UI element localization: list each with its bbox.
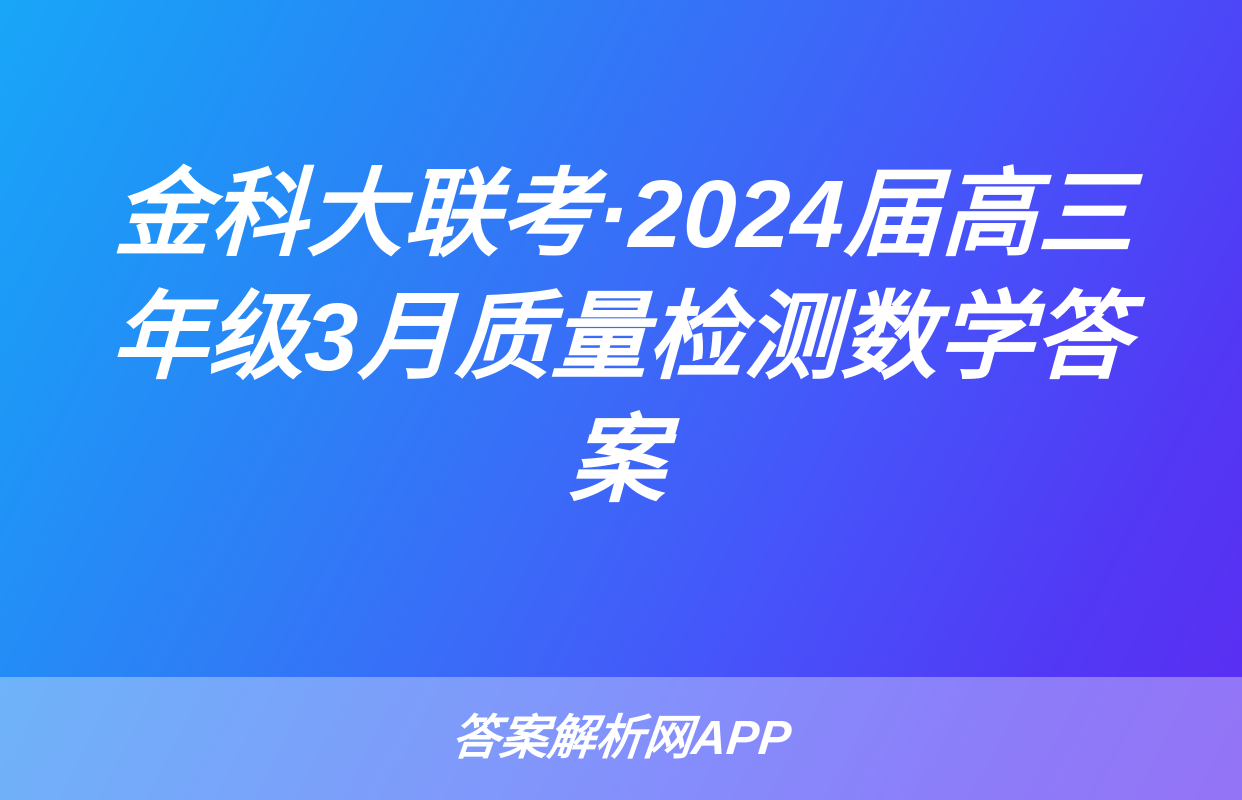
poster-canvas: 金科大联考·2024届高三年级3月质量检测数学答案 答案解析网APP (0, 0, 1242, 800)
headline-area: 金科大联考·2024届高三年级3月质量检测数学答案 (0, 0, 1242, 677)
watermark-text: 答案解析网APP (449, 715, 793, 763)
page-title: 金科大联考·2024届高三年级3月质量检测数学答案 (67, 154, 1175, 523)
watermark-band: 答案解析网APP (0, 677, 1242, 800)
